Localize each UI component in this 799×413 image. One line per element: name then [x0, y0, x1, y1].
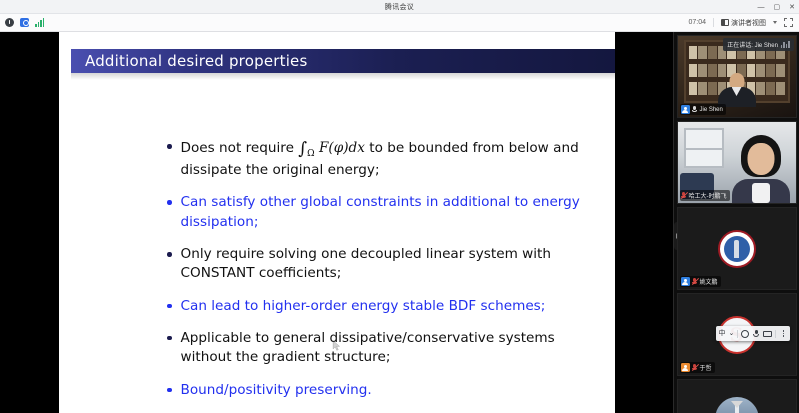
host-icon	[681, 105, 690, 114]
participant-name-badge: 姚文鹏	[680, 276, 721, 287]
floating-input-toolbar[interactable]: 中 ⌄	[716, 326, 791, 341]
speaking-tooltip-label: 正在讲话: Jie Shen	[727, 40, 778, 49]
list-item: Applicable to general dissipative/conser…	[167, 329, 595, 368]
bullet-dot-icon	[167, 200, 172, 205]
participant-tile[interactable]: 正在讲话: Jie Shen Jie Shen	[677, 35, 797, 118]
list-item: Does not require ∫Ω F(φ)dx to be bounded…	[167, 137, 595, 180]
toolbar-divider	[713, 18, 714, 27]
list-item: Bound/positivity preserving.	[167, 381, 595, 400]
close-button[interactable]: ✕	[789, 4, 795, 11]
bullet-text: Bound/positivity preserving.	[181, 381, 372, 400]
meeting-toolbar: 07:04 演讲者视图	[0, 14, 799, 32]
participant-video-person	[730, 135, 792, 203]
speaking-tooltip: 正在讲话: Jie Shen	[723, 38, 793, 51]
audio-wave-icon	[781, 41, 790, 48]
bullet-dot-icon	[167, 388, 172, 393]
ime-chevron-icon[interactable]: ⌄	[729, 330, 735, 337]
integral-expression: ∫Ω F(φ)dx	[298, 140, 365, 156]
chevron-down-icon[interactable]	[773, 21, 777, 24]
gear-icon[interactable]	[741, 330, 749, 338]
network-signal-icon[interactable]	[35, 18, 44, 27]
fullscreen-icon[interactable]	[784, 18, 793, 27]
bullet-dot-icon	[167, 144, 172, 149]
participant-name: 于哲	[700, 363, 712, 372]
participant-name: 哈工大-时鹏飞	[689, 191, 727, 200]
participant-name: Jie Shen	[700, 107, 723, 113]
minimize-button[interactable]: —	[758, 4, 765, 11]
participant-tile[interactable]: S 中 ⌄ 于哲	[677, 293, 797, 376]
mic-muted-icon	[681, 191, 687, 200]
bullet-dot-icon	[167, 304, 172, 309]
shared-screen-stage: Additional desired properties Does not r…	[0, 32, 673, 413]
view-mode-button[interactable]: 演讲者视图	[721, 18, 766, 28]
camera-icon[interactable]	[763, 331, 772, 337]
participant-name: 姚文鹏	[700, 277, 718, 286]
participant-tile[interactable]: 哈工大-时鹏飞	[677, 121, 797, 204]
bullet-text: Does not require ∫Ω F(φ)dx to be bounded…	[181, 137, 596, 180]
slide-bullet-list: Does not require ∫Ω F(φ)dx to be bounded…	[167, 137, 595, 413]
meeting-info-icon[interactable]	[5, 18, 14, 27]
meeting-duration: 07:04	[688, 19, 706, 26]
window-title: 腾讯会议	[385, 2, 414, 12]
toolbar-left-group	[0, 18, 44, 27]
rail-scroll-down-button[interactable]	[674, 397, 799, 411]
participant-tile[interactable]: 姚文鹏	[677, 207, 797, 290]
presentation-slide: Additional desired properties Does not r…	[59, 32, 615, 413]
participant-name-badge: 哈工大-时鹏飞	[680, 190, 730, 201]
mic-muted-icon	[692, 277, 698, 286]
maximize-button[interactable]: ▢	[774, 4, 781, 11]
bullet-text: Can satisfy other global constraints in …	[181, 193, 596, 232]
participant-rail: 正在讲话: Jie Shen Jie Shen	[673, 32, 799, 413]
more-icon[interactable]	[779, 330, 787, 338]
mic-icon[interactable]	[752, 330, 760, 338]
mic-icon	[692, 105, 698, 114]
meeting-window: 腾讯会议 — ▢ ✕ 07:04 演讲者视图 Additiona	[0, 0, 799, 413]
bullet-dot-icon	[167, 336, 172, 341]
slide-title-shadow	[71, 73, 615, 80]
participant-name-badge: 于哲	[680, 362, 715, 373]
avatar	[718, 230, 756, 268]
ime-mode-label[interactable]: 中	[719, 330, 726, 337]
host-icon	[681, 363, 690, 372]
bullet-text: Can lead to higher-order energy stable B…	[181, 297, 546, 316]
toolbar-divider	[775, 330, 776, 338]
window-titlebar: 腾讯会议 — ▢ ✕	[0, 0, 799, 14]
layout-icon	[721, 19, 729, 26]
security-shield-icon[interactable]	[20, 18, 29, 27]
toolbar-right-group: 07:04 演讲者视图	[688, 18, 799, 28]
list-item: Can satisfy other global constraints in …	[167, 193, 595, 232]
list-item: Can lead to higher-order energy stable B…	[167, 297, 595, 316]
list-item: Only require solving one decoupled linea…	[167, 245, 595, 284]
bullet-dot-icon	[167, 252, 172, 257]
mouse-cursor-icon	[332, 340, 341, 351]
background-window	[684, 128, 724, 168]
participant-name-badge: Jie Shen	[680, 104, 726, 115]
chevron-down-icon	[731, 401, 743, 408]
bullet-text: Applicable to general dissipative/conser…	[181, 329, 596, 368]
window-controls: — ▢ ✕	[758, 0, 796, 14]
slide-title-bar: Additional desired properties	[71, 49, 615, 73]
mic-muted-icon	[692, 363, 698, 372]
view-mode-label: 演讲者视图	[731, 18, 766, 28]
host-icon	[681, 277, 690, 286]
toolbar-divider	[737, 330, 738, 338]
bullet-text: Only require solving one decoupled linea…	[181, 245, 596, 284]
page-title: Additional desired properties	[71, 52, 308, 70]
participant-video-person	[717, 73, 757, 107]
